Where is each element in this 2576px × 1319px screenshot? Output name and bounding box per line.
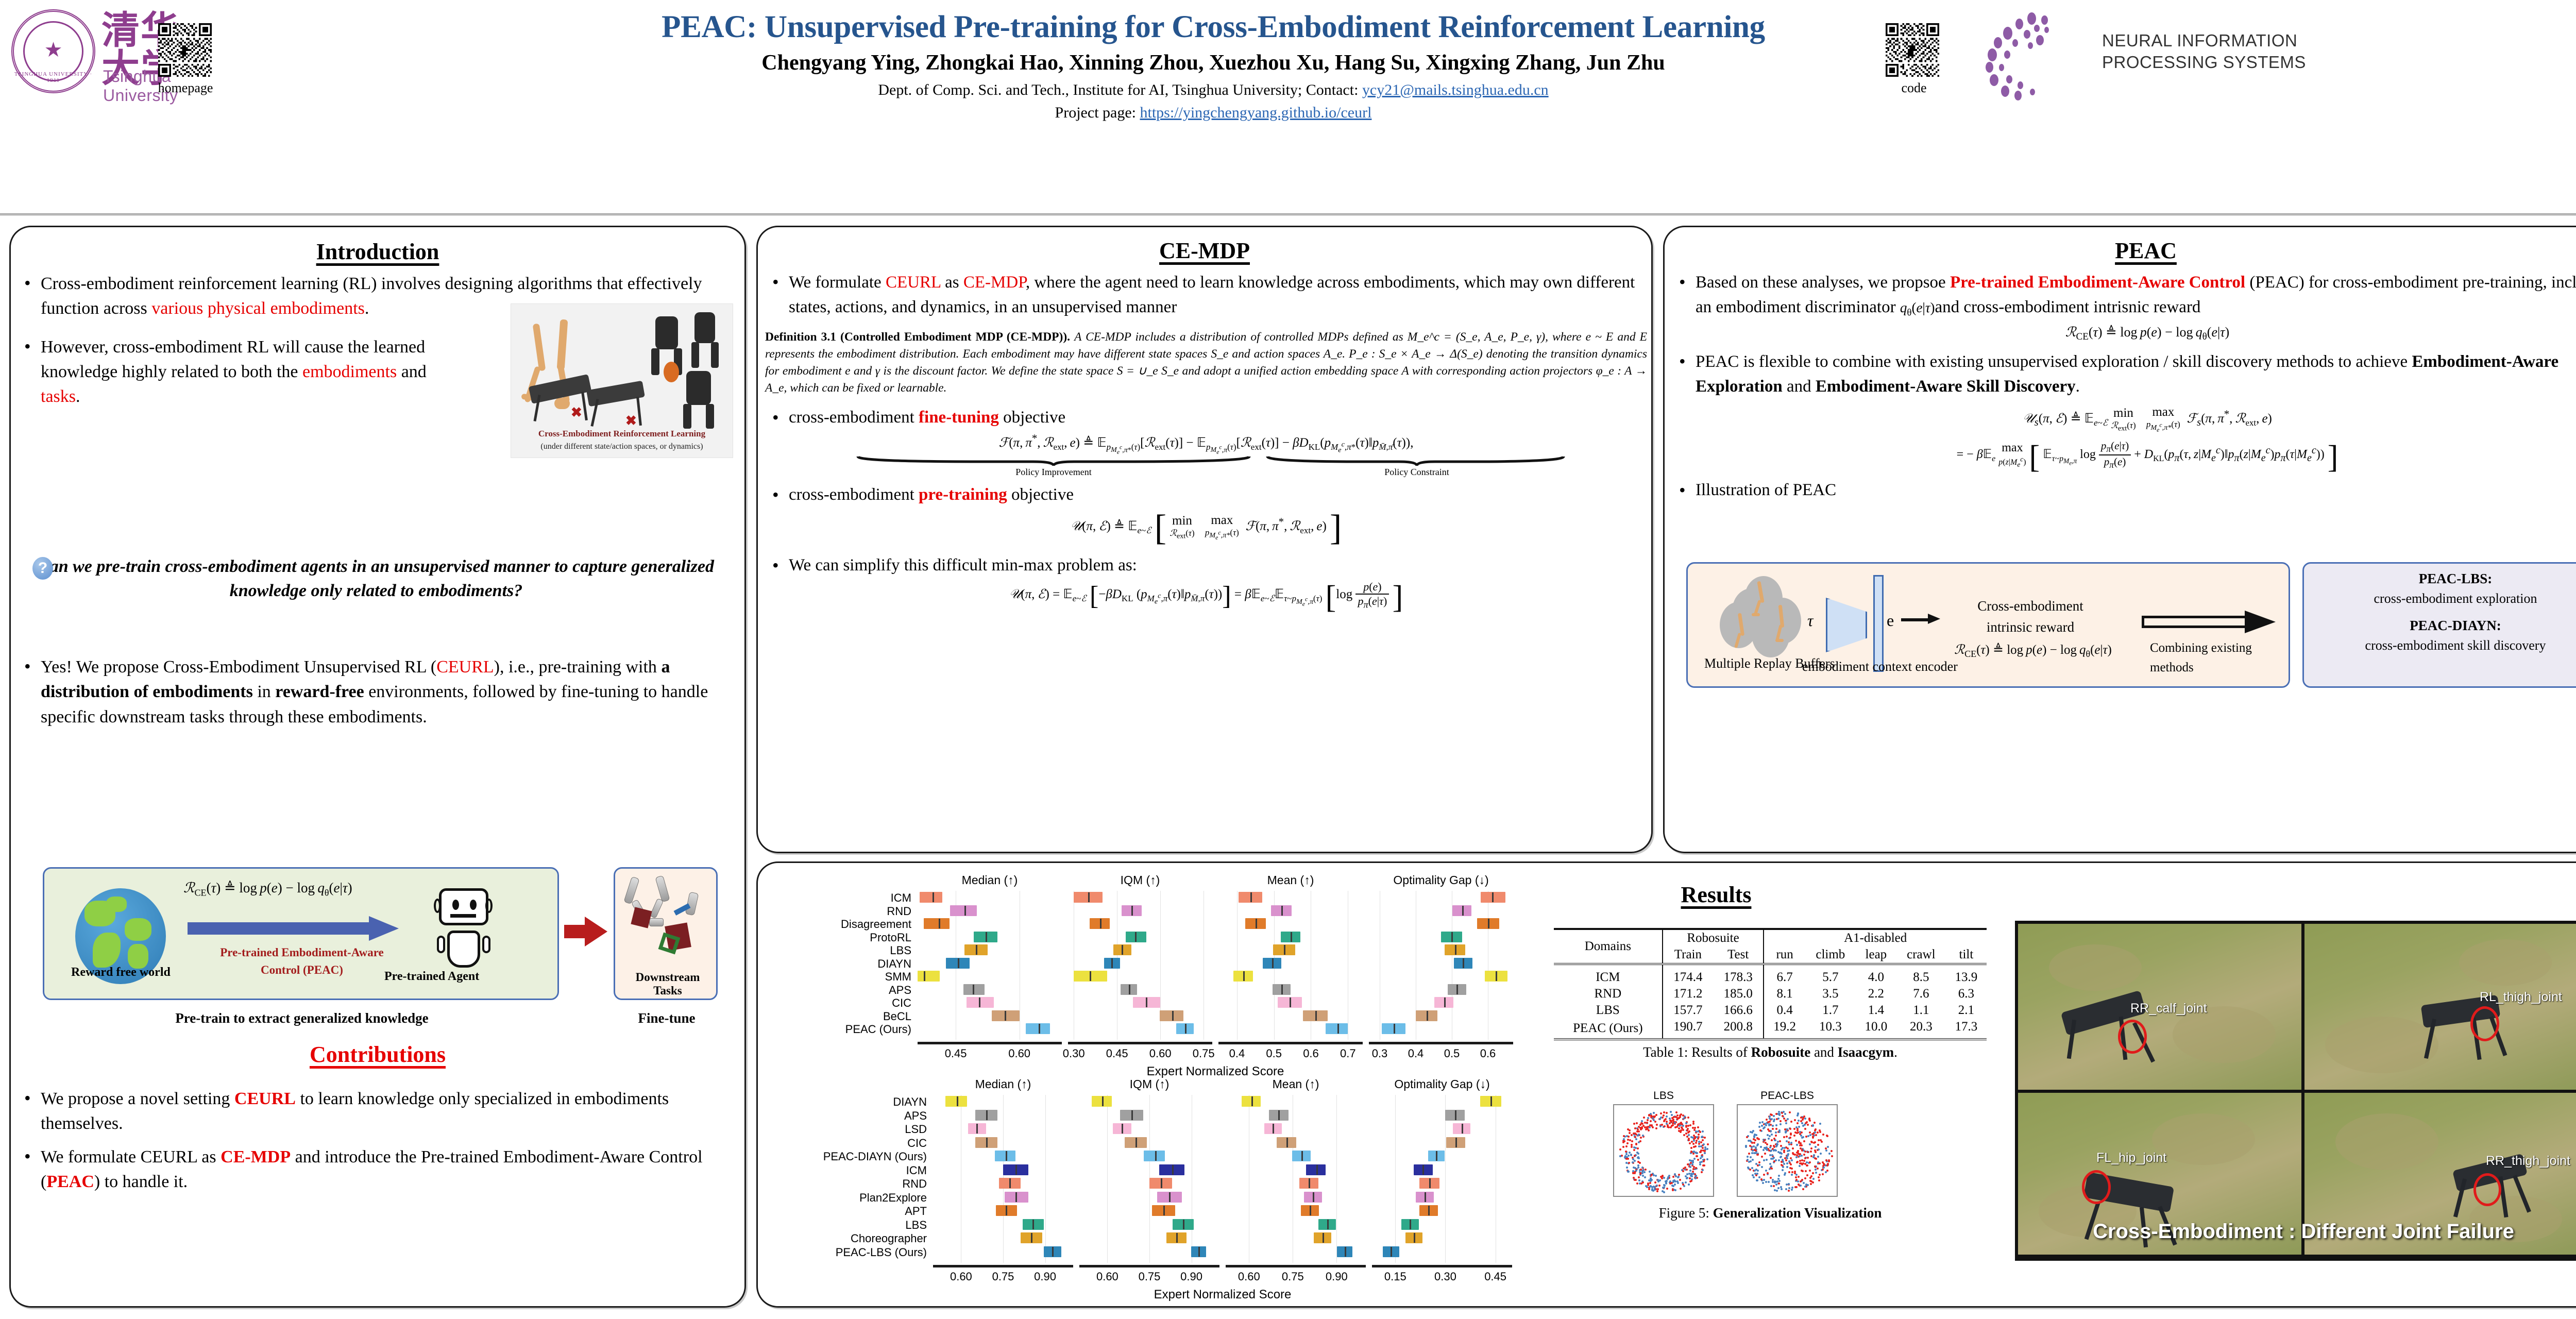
- scatter-point: [1782, 1169, 1784, 1171]
- chart-point-estimate: [1006, 1206, 1007, 1215]
- scatter-point: [1643, 1171, 1646, 1173]
- intro-bullet-2: However, cross-embodiment RL will cause …: [17, 335, 460, 410]
- scatter-point: [1750, 1160, 1752, 1162]
- chart-point-estimate: [1111, 958, 1113, 968]
- scatter-point: [1766, 1159, 1768, 1161]
- photo-rr-calf-joint: RR_calf_joint: [2018, 924, 2301, 1090]
- chart-point-estimate: [986, 1138, 988, 1147]
- chart-interval-bar: [1021, 1232, 1042, 1243]
- scatter-point: [1831, 1150, 1833, 1152]
- scatter-point: [1637, 1164, 1639, 1166]
- scatter-point: [1663, 1191, 1665, 1193]
- chart-point-estimate: [1169, 1192, 1171, 1202]
- scatter-point: [1812, 1181, 1814, 1183]
- finetune-pre: cross-embodiment: [789, 408, 919, 427]
- scatter-point: [1788, 1171, 1790, 1173]
- chart-point-estimate: [933, 892, 934, 902]
- chart-x-axis: [933, 1265, 1073, 1267]
- cemdp-simplify-bullet: We can simplify this difficult min-max p…: [765, 556, 1647, 575]
- photo-label-2: RL_thigh_joint: [2480, 990, 2562, 1005]
- scatter-point: [1801, 1137, 1803, 1139]
- scatter-point: [1783, 1136, 1785, 1138]
- project-page-link[interactable]: https://yingchengyang.github.io/ceurl: [1140, 104, 1372, 121]
- scatter-point: [1761, 1125, 1763, 1127]
- scatter-point: [1812, 1178, 1815, 1180]
- chart-interval-bar: [1074, 971, 1107, 982]
- scatter-point: [1761, 1166, 1763, 1168]
- scatter-point: [1758, 1161, 1760, 1163]
- chart-interval-bar: [964, 944, 988, 955]
- intrinsic-reward-label: Cross-embodiment intrinsic reward: [1945, 596, 2115, 637]
- chart-gridline: [1237, 891, 1238, 1040]
- chart-row-label: CIC: [763, 996, 911, 1010]
- chart-row-label: RND: [763, 905, 911, 918]
- scatter-point: [1638, 1179, 1640, 1181]
- scatter-point: [1769, 1146, 1771, 1148]
- scatter-point: [1689, 1177, 1691, 1179]
- scatter-point: [1694, 1145, 1697, 1147]
- chart-interval-bar: [1480, 1096, 1501, 1107]
- chart-gridline: [1074, 891, 1074, 1040]
- scatter-point: [1818, 1148, 1820, 1151]
- scatter-point: [1781, 1153, 1783, 1155]
- chart-interval-bar: [1074, 892, 1103, 903]
- finetune-post: objective: [999, 408, 1065, 427]
- scatter-point: [1765, 1124, 1767, 1126]
- scatter-point: [1765, 1170, 1767, 1172]
- chart-interval-bar: [1242, 1096, 1261, 1107]
- fig5-caption-pre: Figure 5:: [1659, 1205, 1713, 1221]
- scatter-point: [1814, 1131, 1816, 1134]
- neurips-line-1: NEURAL INFORMATION: [2102, 30, 2306, 52]
- scatter-point: [1787, 1153, 1789, 1155]
- scatter-point: [1647, 1182, 1649, 1185]
- cemdp-body: We formulate CEURL as CE-MDP, where the …: [765, 270, 1647, 616]
- code-qr-code[interactable]: [1886, 23, 1939, 77]
- table-cell-value: 4.0: [1856, 964, 1896, 986]
- scatter-point: [1670, 1111, 1672, 1113]
- table-row: ICM174.4178.36.75.74.08.513.9: [1554, 964, 1987, 986]
- peac-lbs-title: PEAC-LBS:: [2304, 571, 2576, 587]
- scatter-point: [1795, 1186, 1798, 1188]
- scatter-point: [1703, 1143, 1705, 1145]
- scatter-point: [1791, 1174, 1793, 1176]
- chart-interval-bar: [1382, 1023, 1406, 1034]
- scatter-point: [1775, 1135, 1777, 1137]
- scatter-point: [1770, 1177, 1772, 1179]
- chart-row-label: Plan2Explore: [763, 1191, 927, 1205]
- scatter-point: [1659, 1118, 1661, 1120]
- chart-point-estimate: [1183, 1220, 1184, 1229]
- label-pretrained-agent: Pre-trained Agent: [384, 970, 479, 984]
- peac-bullet-1: Based on these analyses, we propsoe Pre-…: [1672, 270, 2576, 319]
- chart-interval-bar: [1299, 1178, 1318, 1189]
- intro-b3-part1: Yes! We propose Cross-Embodiment Unsuper…: [41, 657, 436, 677]
- scatter-point: [1753, 1176, 1755, 1178]
- scatter-point: [1635, 1138, 1637, 1140]
- chart-interval-bar: [1416, 1010, 1437, 1021]
- scatter-point: [1809, 1143, 1811, 1145]
- scatter-point: [1797, 1150, 1799, 1152]
- scatter-point: [1654, 1181, 1656, 1183]
- chart-interval-bar: [1003, 1164, 1028, 1175]
- table-cell-value: 8.1: [1764, 986, 1805, 1002]
- scatter-point: [1686, 1169, 1688, 1171]
- chart-point-estimate: [1496, 971, 1497, 981]
- peac-lbs-subtitle: cross-embodiment exploration: [2304, 589, 2576, 608]
- chart-subplot-title: Optimality Gap (↓): [1369, 873, 1513, 887]
- intro-b2-highlight-1: embodiments: [302, 362, 397, 381]
- table-col-crawl: crawl: [1896, 946, 1946, 964]
- cemdp-title: CE-MDP: [758, 238, 1651, 264]
- scatter-point: [1658, 1185, 1660, 1187]
- equation-skill-objective-expanded: = − β𝔼e max p(z|Mec) [ 𝔼τ~pMe,π log pπ(e…: [1672, 439, 2576, 476]
- scatter-point: [1807, 1124, 1809, 1126]
- scatter-point: [1810, 1151, 1812, 1153]
- scatter-point: [1804, 1157, 1806, 1159]
- scatter-point: [1766, 1119, 1768, 1121]
- chart-point-estimate: [1391, 1247, 1392, 1257]
- chart-row-label: CIC: [763, 1137, 927, 1150]
- chart-tick-label: 0.90: [1025, 1270, 1066, 1283]
- scatter-point: [1780, 1123, 1782, 1125]
- chart-row-label: ICM: [763, 1164, 927, 1177]
- pretrain-post: objective: [1007, 485, 1074, 504]
- contrib-2-part1: We formulate CEURL as: [41, 1147, 221, 1166]
- chart-interval-bar: [1126, 932, 1146, 942]
- scatter-point: [1763, 1174, 1765, 1176]
- scatter-point: [1645, 1169, 1647, 1171]
- scatter-point: [1795, 1156, 1798, 1158]
- table-col-run: run: [1764, 946, 1805, 964]
- contrib-1-highlight: CEURL: [234, 1089, 296, 1108]
- chart-point-estimate: [1052, 1247, 1054, 1257]
- scatter-point: [1697, 1126, 1699, 1128]
- chart-point-estimate: [1281, 985, 1283, 994]
- scatter-point: [1827, 1146, 1829, 1148]
- scatter-plot-peac-lbs: [1737, 1104, 1838, 1197]
- scatter-point: [1686, 1177, 1688, 1179]
- scatter-point: [1670, 1126, 1672, 1128]
- scatter-point: [1699, 1131, 1701, 1133]
- chart-tick-label: 0.6: [1467, 1047, 1509, 1060]
- table-cell-value: 1.4: [1856, 1002, 1896, 1019]
- chart-interval-bar: [1454, 958, 1472, 969]
- scatter-point: [1789, 1128, 1791, 1130]
- scatter-point: [1789, 1137, 1791, 1139]
- chart-interval-bar: [1292, 1151, 1311, 1161]
- chart-point-estimate: [1122, 1124, 1123, 1134]
- scatter-point: [1663, 1114, 1665, 1117]
- scatter-point: [1689, 1170, 1691, 1172]
- scatter-point: [1818, 1176, 1820, 1178]
- table-cell-method: PEAC (Ours): [1554, 1019, 1663, 1039]
- scatter-point: [1771, 1134, 1773, 1136]
- chart-subplot: [1218, 891, 1363, 1040]
- chart-interval-bar: [950, 905, 977, 916]
- scatter-point: [1801, 1144, 1803, 1146]
- chart-interval-bar: [1416, 1192, 1433, 1203]
- intro-bullet-3: Yes! We propose Cross-Embodiment Unsuper…: [17, 655, 741, 730]
- photo-grid-caption: Cross-Embodiment : Different Joint Failu…: [2019, 1220, 2576, 1243]
- chart-dmc-aggregate-metrics: Median (↑)IQM (↑)Mean (↑)Optimality Gap …: [763, 873, 1546, 1079]
- scatter-point: [1800, 1185, 1802, 1187]
- peac-diagram-right-box: PEAC-LBS: cross-embodiment exploration P…: [2302, 562, 2576, 688]
- homepage-qr-code[interactable]: [158, 23, 212, 77]
- chart-point-estimate: [1456, 985, 1458, 994]
- chart-interval-bar: [1090, 918, 1110, 929]
- chart-interval-bar: [1428, 1151, 1445, 1161]
- chart-point-estimate: [964, 906, 966, 916]
- scatter-point: [1666, 1121, 1668, 1123]
- contact-email-link[interactable]: ycy21@mails.tsinghua.edu.cn: [1362, 81, 1549, 98]
- chart-interval-bar: [1434, 997, 1453, 1008]
- scatter-point: [1781, 1188, 1783, 1190]
- scatter-point: [1791, 1187, 1793, 1189]
- chart-gridline: [1380, 891, 1380, 1040]
- scatter-point: [1650, 1120, 1652, 1122]
- chart-point-estimate: [976, 945, 977, 955]
- scatter-point: [1812, 1125, 1814, 1127]
- project-page-line: Project page: https://yingchengyang.gith…: [392, 104, 2035, 122]
- peac-b1-part3: and cross-embodiment intrisnic reward: [1935, 298, 2201, 316]
- chart-interval-bar: [946, 958, 970, 969]
- scatter-point: [1831, 1155, 1833, 1157]
- qr-glyph: [1886, 23, 1939, 77]
- chart-point-estimate: [1462, 906, 1464, 916]
- table-cell-value: 7.6: [1896, 986, 1946, 1002]
- chart-gridline: [1204, 891, 1204, 1040]
- scatter-point: [1693, 1158, 1696, 1160]
- chart-tick-label: 0.45: [935, 1047, 976, 1060]
- scatter-point: [1794, 1119, 1796, 1121]
- scatter-point: [1803, 1140, 1805, 1142]
- chart-interval-bar: [1044, 1246, 1061, 1257]
- chart-row-label: LBS: [763, 1219, 927, 1232]
- scatter-point: [1704, 1146, 1706, 1148]
- table-cell-value: 174.4: [1663, 964, 1713, 986]
- scatter-point: [1777, 1118, 1780, 1120]
- scatter-point: [1692, 1153, 1694, 1155]
- chart-tick-label: 0.75: [1129, 1270, 1170, 1283]
- scatter-point: [1802, 1188, 1804, 1190]
- scatter-point: [1804, 1186, 1806, 1188]
- scatter-point: [1693, 1140, 1695, 1142]
- scatter-point: [1698, 1143, 1700, 1145]
- scatter-point: [1760, 1146, 1762, 1148]
- scatter-point: [1678, 1127, 1680, 1129]
- scatter-point: [1775, 1113, 1777, 1115]
- scatter-point: [1769, 1121, 1771, 1123]
- scatter-point: [1629, 1132, 1631, 1134]
- chart-tick-label: 0.60: [1228, 1270, 1269, 1283]
- chart-point-estimate: [1313, 1192, 1314, 1202]
- scatter-point: [1692, 1168, 1694, 1170]
- scatter-point: [1778, 1175, 1780, 1177]
- chart-interval-bar: [1448, 984, 1466, 995]
- peac-diayn-title: PEAC-DIAYN:: [2304, 618, 2576, 634]
- pretrain-highlight: pre-training: [919, 485, 1007, 504]
- fig5-caption-bold: Generalization Visualization: [1713, 1205, 1882, 1221]
- scatter-point: [1682, 1170, 1684, 1172]
- chart-interval-bar: [1326, 1023, 1348, 1034]
- chart-point-estimate: [1176, 1233, 1178, 1243]
- scatter-point: [1783, 1149, 1785, 1152]
- scatter-point: [1810, 1183, 1812, 1185]
- chart-subplot-title: Median (↑): [933, 1077, 1073, 1091]
- scatter-point: [1688, 1173, 1690, 1175]
- scatter-point: [1763, 1159, 1765, 1161]
- scatter-point: [1681, 1123, 1683, 1125]
- scatter-point: [1778, 1182, 1780, 1185]
- scatter-point: [1770, 1149, 1772, 1152]
- table-cell-method: RND: [1554, 986, 1663, 1002]
- chart-point-estimate: [1429, 1178, 1431, 1188]
- scatter-point: [1781, 1164, 1783, 1166]
- scatter-point: [1798, 1183, 1800, 1186]
- scatter-point: [1674, 1122, 1676, 1124]
- scatter-point: [1649, 1182, 1651, 1184]
- scatter-point: [1772, 1128, 1774, 1130]
- chart-interval-bar: [1023, 1219, 1044, 1230]
- brace-curves: [765, 455, 1641, 467]
- scatter-point: [1706, 1158, 1708, 1160]
- table-caption-bold-1: Robosuite: [1751, 1044, 1811, 1060]
- scatter-point: [1755, 1134, 1757, 1136]
- scatter-point: [1773, 1185, 1775, 1187]
- chart-point-estimate: [1455, 1110, 1456, 1120]
- scatter-point: [1817, 1144, 1819, 1146]
- scatter-point: [1768, 1138, 1770, 1140]
- scatter-point: [1825, 1159, 1827, 1161]
- scatter-point: [1763, 1179, 1765, 1181]
- scatter-point: [1782, 1166, 1784, 1168]
- scatter-point: [1773, 1119, 1775, 1121]
- scatter-point: [1633, 1132, 1635, 1135]
- scatter-point: [1694, 1177, 1697, 1179]
- chart-interval-bar: [1303, 1010, 1328, 1021]
- scatter-point: [1817, 1131, 1819, 1134]
- scatter-point: [1636, 1182, 1638, 1185]
- scatter-point: [1655, 1127, 1657, 1129]
- peac-bullet-2: PEAC is flexible to combine with existin…: [1672, 350, 2576, 399]
- scatter-point: [1623, 1138, 1625, 1140]
- chart-point-estimate: [1290, 997, 1291, 1007]
- page-title: PEAC: Unsupervised Pre-training for Cros…: [392, 9, 2035, 45]
- scatter-point: [1689, 1166, 1691, 1168]
- scatter-point: [1785, 1188, 1787, 1190]
- scatter-right-title: PEAC-LBS: [1737, 1090, 1838, 1102]
- scatter-point: [1809, 1131, 1811, 1134]
- scatter-point: [1628, 1155, 1630, 1157]
- chart-point-estimate: [1490, 1096, 1492, 1106]
- scatter-point: [1801, 1159, 1803, 1161]
- table-cell-value: 3.5: [1805, 986, 1856, 1002]
- scatter-point: [1685, 1181, 1687, 1183]
- chart-point-estimate: [1005, 1011, 1006, 1021]
- chart-tick-label: 0.60: [1140, 1047, 1181, 1060]
- scatter-point: [1651, 1115, 1653, 1118]
- table-cell-value: 1.7: [1805, 1002, 1856, 1019]
- scatter-point: [1793, 1135, 1795, 1137]
- scatter-point: [1631, 1140, 1633, 1142]
- scatter-point: [1672, 1189, 1674, 1191]
- scatter-point: [1786, 1136, 1788, 1138]
- chart-point-estimate: [1422, 1165, 1424, 1175]
- pretrain-arrow-icon: [188, 918, 409, 939]
- peac-b2-mid: and: [1783, 377, 1816, 396]
- pipeline-caption-right: Fine-tune: [614, 1010, 720, 1026]
- scatter-point: [1680, 1188, 1682, 1190]
- table-cell-value: 10.3: [1805, 1019, 1856, 1039]
- scatter-point: [1803, 1182, 1805, 1184]
- poster-header: TSINGHUA UNIVERSITY · 1911 清华大学 Tsinghua…: [0, 0, 2576, 215]
- scatter-point: [1764, 1147, 1766, 1149]
- scatter-point: [1819, 1174, 1821, 1176]
- photo-label-4: RR_thigh_joint: [2486, 1154, 2570, 1169]
- peac-panel: PEAC Based on these analyses, we propsoe…: [1663, 226, 2576, 853]
- chart-interval-bar: [992, 1010, 1020, 1021]
- chart-row-label: APT: [763, 1205, 927, 1218]
- scatter-point: [1758, 1126, 1760, 1128]
- chart-subplot: [1068, 891, 1212, 1040]
- scatter-point: [1784, 1172, 1786, 1174]
- chart-interval-bar: [1113, 1123, 1131, 1134]
- e-symbol-label: e: [1887, 611, 1894, 630]
- scatter-point: [1688, 1183, 1690, 1186]
- peac-bullet-3: Illustration of PEAC: [1672, 481, 2576, 500]
- cemdp-b1-highlight-2: CE-MDP: [963, 273, 1026, 292]
- pipeline-formula: ℛCE(τ) ≜ log p(e) − log qθ(e|τ): [183, 880, 352, 898]
- scatter-point: [1692, 1173, 1694, 1175]
- chart-interval-bar: [1277, 1137, 1296, 1148]
- scatter-point: [1776, 1190, 1778, 1192]
- chart-point-estimate: [1428, 1206, 1430, 1215]
- scatter-point: [1764, 1139, 1766, 1141]
- results-table: Domains Robosuite A1-disabled Train Test…: [1554, 928, 1987, 1040]
- scatter-point: [1792, 1147, 1794, 1149]
- scatter-point: [1814, 1129, 1816, 1131]
- introduction-panel: Introduction Cross-embodiment reinforcem…: [9, 226, 746, 1308]
- chart-interval-bar: [963, 984, 985, 995]
- scatter-point: [1680, 1131, 1682, 1133]
- photo-label-1: RR_calf_joint: [2130, 1001, 2207, 1016]
- chart-point-estimate: [973, 985, 974, 994]
- table-col-leap: leap: [1856, 946, 1896, 964]
- scatter-point: [1663, 1177, 1665, 1179]
- chart-interval-bar: [995, 1151, 1016, 1161]
- table-cell-value: 8.5: [1896, 964, 1946, 986]
- scatter-point: [1802, 1170, 1804, 1172]
- pretrain-pre: cross-embodiment: [789, 485, 919, 504]
- chart-interval-bar: [1149, 1178, 1172, 1189]
- scatter-point: [1655, 1114, 1657, 1116]
- scatter-point: [1704, 1137, 1706, 1139]
- tau-symbol-label: τ: [1807, 611, 1813, 630]
- scatter-point: [1766, 1149, 1768, 1151]
- scatter-point: [1637, 1153, 1639, 1155]
- scatter-point: [1790, 1121, 1792, 1123]
- scatter-point: [1642, 1181, 1644, 1183]
- scatter-point: [1671, 1114, 1673, 1116]
- scatter-point: [1768, 1124, 1770, 1126]
- scatter-point: [1653, 1186, 1655, 1188]
- scatter-point: [1772, 1125, 1774, 1127]
- scatter-point: [1815, 1172, 1817, 1174]
- scatter-point: [1675, 1175, 1677, 1177]
- scatter-point: [1622, 1141, 1624, 1143]
- table-header-domains: Domains: [1554, 929, 1663, 964]
